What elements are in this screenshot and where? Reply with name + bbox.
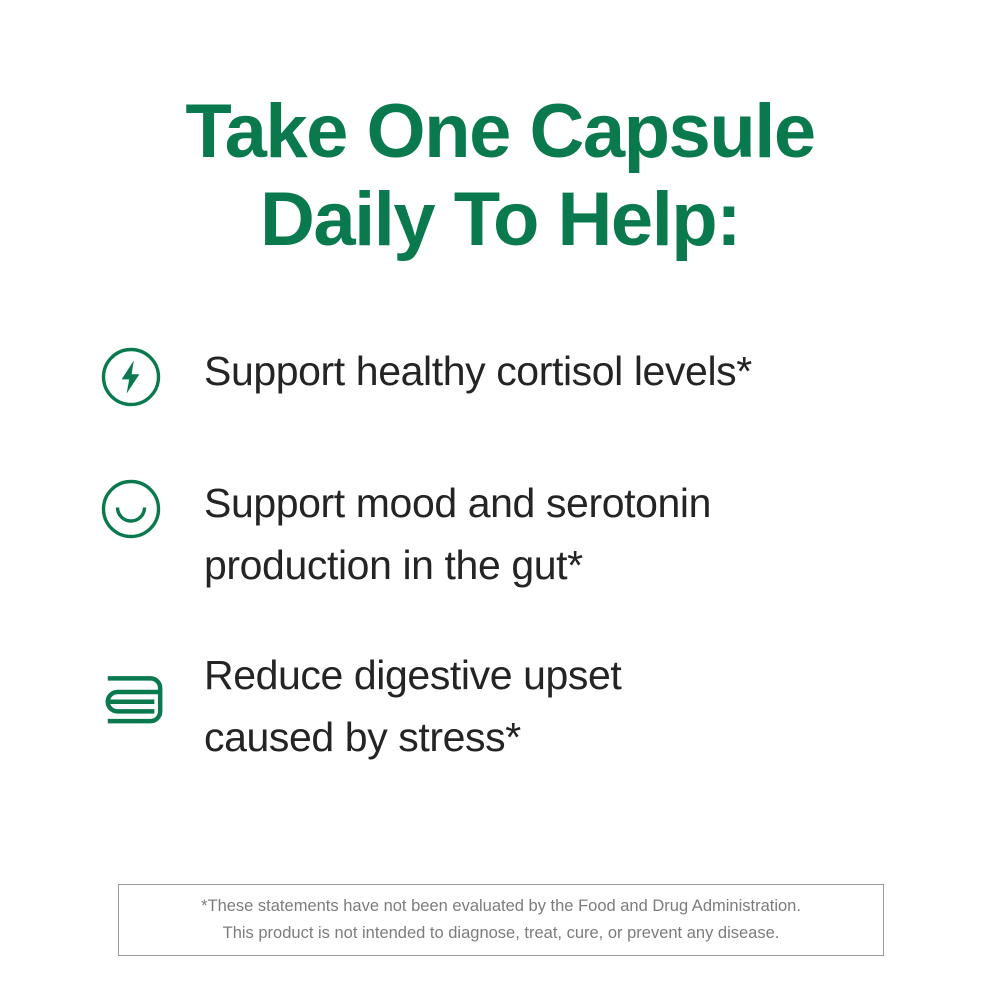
benefit-text-line-2: caused by stress* bbox=[204, 706, 940, 768]
benefit-text-line-2: production in the gut* bbox=[204, 534, 940, 596]
fda-disclaimer-box: *These statements have not been evaluate… bbox=[118, 884, 884, 956]
benefit-text: Support mood and serotonin production in… bbox=[166, 472, 940, 596]
benefit-text: Support healthy cortisol levels* bbox=[166, 340, 940, 402]
lightning-bolt-circle-icon bbox=[100, 340, 166, 414]
stomach-digestion-icon bbox=[100, 644, 166, 718]
disclaimer-line-2: This product is not intended to diagnose… bbox=[223, 920, 780, 947]
benefit-list: Support healthy cortisol levels* Support… bbox=[100, 340, 940, 768]
promo-panel: Take One Capsule Daily To Help: Support … bbox=[0, 0, 1000, 1000]
disclaimer-line-1: *These statements have not been evaluate… bbox=[201, 893, 801, 920]
benefit-text-line-1: Reduce digestive upset bbox=[204, 644, 940, 706]
list-item: Support mood and serotonin production in… bbox=[100, 472, 940, 596]
benefit-text: Reduce digestive upset caused by stress* bbox=[166, 644, 940, 768]
list-item: Reduce digestive upset caused by stress* bbox=[100, 644, 940, 768]
page-title: Take One Capsule Daily To Help: bbox=[0, 88, 1000, 264]
benefit-text-line-1: Support mood and serotonin bbox=[204, 472, 940, 534]
page-title-line-2: Daily To Help: bbox=[0, 176, 1000, 264]
smiley-face-circle-icon bbox=[100, 472, 166, 546]
list-item: Support healthy cortisol levels* bbox=[100, 340, 940, 414]
benefit-text-line-1: Support healthy cortisol levels* bbox=[204, 340, 940, 402]
page-title-line-1: Take One Capsule bbox=[0, 88, 1000, 176]
